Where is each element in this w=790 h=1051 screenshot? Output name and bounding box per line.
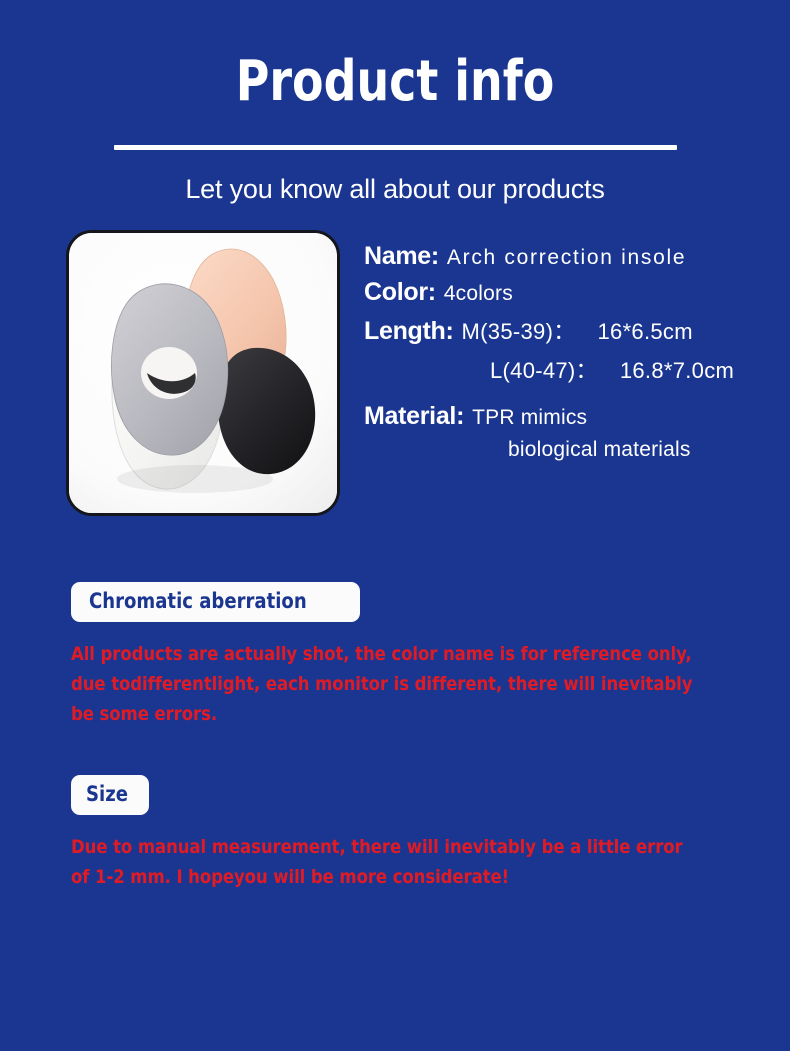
spec-value-color: 4colors — [444, 282, 513, 306]
spec-value-length-l-size: L(40-47)： — [490, 353, 598, 385]
product-photo — [66, 230, 340, 516]
notice-chromatic-aberration: Chromatic aberration All products are ac… — [0, 582, 790, 729]
spec-key-length: Length: — [364, 317, 454, 346]
spec-value-material-cont: biological materials — [508, 438, 691, 462]
spec-key-color: Color: — [364, 278, 436, 307]
product-specs: Name: Arch correction insole Color: 4col… — [364, 230, 790, 469]
notice-size-body: Due to manual measurement, there will in… — [71, 832, 750, 892]
page-title: Product info — [71, 52, 719, 112]
notice-line: due todifferentlight, each monitor is di… — [71, 669, 662, 699]
spec-key-material: Material: — [364, 402, 464, 431]
spec-row-material: Material: TPR mimics — [364, 402, 790, 431]
title-divider — [114, 145, 677, 150]
notice-line: be some errors. — [71, 699, 662, 729]
spec-value-length-m-size: M(35-39)： — [462, 314, 576, 346]
spec-row-length-l: L(40-47)： 16.8*7.0cm — [482, 353, 790, 385]
product-photo-illustration — [69, 233, 337, 513]
notice-line: Due to manual measurement, there will in… — [71, 832, 662, 862]
notice-chromatic-aberration-body: All products are actually shot, the colo… — [71, 639, 750, 729]
notice-size: Size Due to manual measurement, there wi… — [0, 775, 790, 892]
product-section: Name: Arch correction insole Color: 4col… — [0, 230, 790, 516]
spec-key-name: Name: — [364, 242, 439, 271]
photo-shadow — [117, 465, 273, 493]
spec-value-name: Arch correction insole — [447, 246, 686, 270]
badge-size-label: Size — [86, 783, 128, 806]
spec-value-length-l-dims: 16.8*7.0cm — [620, 358, 734, 384]
badge-size: Size — [71, 775, 149, 815]
spec-value-length-m-dims: 16*6.5cm — [598, 319, 693, 345]
page-subtitle: Let you know all about our products — [0, 150, 790, 206]
badge-chromatic-aberration: Chromatic aberration — [71, 582, 360, 622]
spec-row-material-cont: biological materials — [500, 438, 790, 462]
page-header: Product info Let you know all about our … — [0, 0, 790, 206]
spec-row-color: Color: 4colors — [364, 278, 790, 307]
badge-chromatic-aberration-label: Chromatic aberration — [89, 590, 307, 613]
notice-line: All products are actually shot, the colo… — [71, 639, 662, 669]
spec-value-material: TPR mimics — [472, 406, 587, 430]
spec-row-length-m: Length: M(35-39)： 16*6.5cm — [364, 314, 790, 346]
title-divider-wrap — [0, 145, 790, 150]
notice-line: of 1-2 mm. I hopeyou will be more consid… — [71, 862, 662, 892]
spec-row-name: Name: Arch correction insole — [364, 242, 790, 271]
